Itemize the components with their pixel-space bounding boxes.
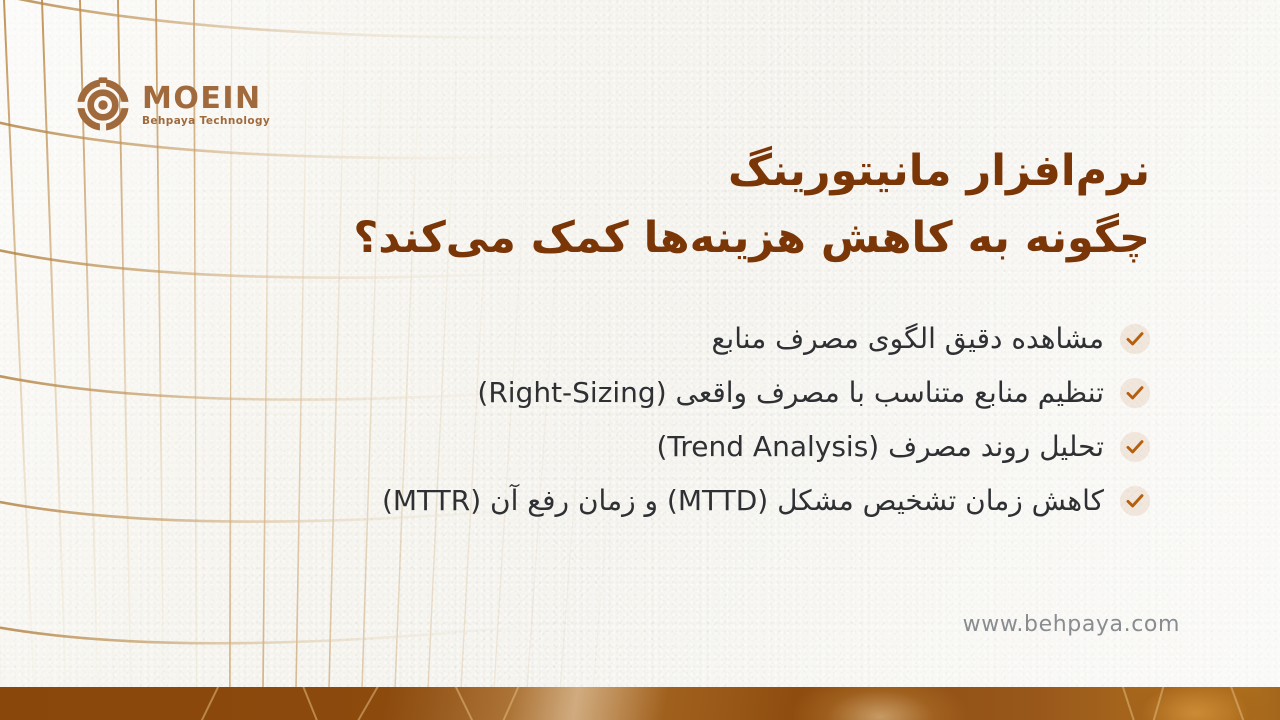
- list-item: کاهش زمان تشخیص مشکل (MTTD) و زمان رفع آ…: [100, 474, 1150, 528]
- list-item-label: مشاهده دقیق الگوی مصرف منابع: [712, 321, 1104, 357]
- bottom-accent-band: [0, 687, 1280, 720]
- benefits-list: مشاهده دقیق الگوی مصرف منابع تنظیم منابع…: [100, 312, 1150, 528]
- list-item: تنظیم منابع متناسب با مصرف واقعی (Right-…: [100, 366, 1150, 420]
- check-icon: [1120, 324, 1150, 354]
- slide-canvas: MOEIN Behpaya Technology نرم‌افزار مانیت…: [0, 0, 1280, 720]
- moein-target-gear-icon: [74, 76, 132, 134]
- brand-logo-text: MOEIN Behpaya Technology: [142, 84, 270, 127]
- list-item: مشاهده دقیق الگوی مصرف منابع: [100, 312, 1150, 366]
- headline-line-1: نرم‌افزار مانیتورینگ: [110, 138, 1150, 205]
- brand-logo: MOEIN Behpaya Technology: [74, 74, 274, 136]
- page-title: نرم‌افزار مانیتورینگ چگونه به کاهش هزینه…: [110, 138, 1150, 271]
- check-icon: [1120, 486, 1150, 516]
- list-item: تحلیل روند مصرف (Trend Analysis): [100, 420, 1150, 474]
- headline-line-2: چگونه به کاهش هزینه‌ها کمک می‌کند؟: [110, 205, 1150, 272]
- brand-name: MOEIN: [142, 84, 270, 114]
- list-item-label: کاهش زمان تشخیص مشکل (MTTD) و زمان رفع آ…: [382, 483, 1104, 519]
- check-icon: [1120, 432, 1150, 462]
- list-item-label: تنظیم منابع متناسب با مصرف واقعی (Right-…: [477, 375, 1104, 411]
- list-item-label: تحلیل روند مصرف (Trend Analysis): [656, 429, 1104, 465]
- website-url: www.behpaya.com: [963, 612, 1180, 637]
- brand-tagline: Behpaya Technology: [142, 116, 270, 127]
- check-icon: [1120, 378, 1150, 408]
- band-line-decor: [0, 687, 1280, 720]
